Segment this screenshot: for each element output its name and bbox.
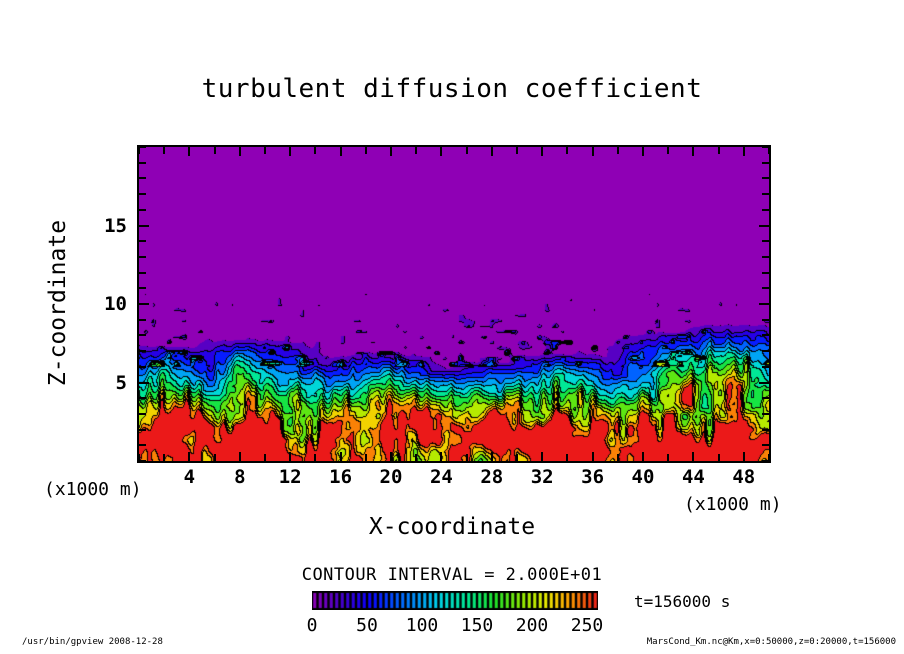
x-tick-label: 16 <box>321 466 361 488</box>
x-tick-bottom <box>743 452 745 461</box>
y-tick-label: 10 <box>93 293 127 315</box>
colorbar-tick-label: 0 <box>282 615 342 636</box>
y-tick-right <box>762 444 769 446</box>
x-tick-top <box>390 147 392 156</box>
x-tick-bottom <box>390 452 392 461</box>
x-tick-top <box>692 147 694 156</box>
y-tick-left <box>139 162 146 164</box>
colorbar-tick-label: 200 <box>502 615 562 636</box>
x-tick-bottom <box>592 452 594 461</box>
x-tick-bottom <box>566 454 568 461</box>
y-tick-left <box>139 460 146 462</box>
y-tick-left <box>139 240 146 242</box>
x-tick-bottom <box>466 454 468 461</box>
x-tick-bottom <box>340 452 342 461</box>
y-tick-left <box>139 382 149 384</box>
x-tick-bottom <box>289 452 291 461</box>
y-tick-left <box>139 444 146 446</box>
y-tick-left <box>139 146 146 148</box>
x-tick-bottom <box>516 454 518 461</box>
contour-field-canvas <box>139 147 769 461</box>
x-tick-top <box>566 147 568 154</box>
x-tick-top <box>466 147 468 154</box>
y-tick-right <box>762 287 769 289</box>
x-tick-top <box>214 147 216 154</box>
x-tick-bottom <box>718 454 720 461</box>
y-tick-left <box>139 256 146 258</box>
x-tick-top <box>415 147 417 154</box>
y-tick-left <box>139 303 149 305</box>
y-tick-right <box>762 334 769 336</box>
x-tick-top <box>516 147 518 154</box>
y-tick-label: 15 <box>93 215 127 237</box>
y-tick-label: 5 <box>93 372 127 394</box>
x-tick-top <box>768 147 770 154</box>
x-tick-bottom <box>188 452 190 461</box>
x-tick-top <box>365 147 367 154</box>
y-tick-right <box>762 193 769 195</box>
x-tick-label: 32 <box>522 466 562 488</box>
x-tick-bottom <box>314 454 316 461</box>
y-tick-left <box>139 429 146 431</box>
x-tick-label: 48 <box>724 466 764 488</box>
y-tick-right <box>759 382 769 384</box>
footer-dataset: MarsCond_Km.nc@Km,x=0:50000,z=0:20000,t=… <box>647 637 896 647</box>
y-tick-left <box>139 287 146 289</box>
colorbar-tick-label: 250 <box>557 615 617 636</box>
x-tick-label: 36 <box>573 466 613 488</box>
y-tick-right <box>762 350 769 352</box>
x-tick-label: 24 <box>421 466 461 488</box>
x-axis-unit-right: (x1000 m) <box>684 494 782 515</box>
colorbar-tick-label: 50 <box>337 615 397 636</box>
x-tick-top <box>642 147 644 156</box>
x-tick-bottom <box>440 452 442 461</box>
y-tick-left <box>139 366 146 368</box>
colorbar[interactable] <box>312 591 598 610</box>
y-tick-right <box>762 397 769 399</box>
y-axis-title: Z-coordinate <box>45 198 71 408</box>
y-tick-left <box>139 225 149 227</box>
x-axis-unit-left: (x1000 m) <box>44 479 142 500</box>
y-tick-right <box>762 429 769 431</box>
y-tick-right <box>759 303 769 305</box>
x-tick-bottom <box>264 454 266 461</box>
x-axis-title: X-coordinate <box>0 514 904 540</box>
y-tick-left <box>139 397 146 399</box>
x-tick-top <box>340 147 342 156</box>
y-tick-left <box>139 334 146 336</box>
x-tick-bottom <box>642 452 644 461</box>
x-tick-top <box>440 147 442 156</box>
x-tick-bottom <box>214 454 216 461</box>
x-tick-top <box>667 147 669 154</box>
x-tick-bottom <box>617 454 619 461</box>
x-tick-top <box>718 147 720 154</box>
x-tick-label: 4 <box>169 466 209 488</box>
contour-interval-label: CONTOUR INTERVAL = 2.000E+01 <box>0 565 904 585</box>
x-tick-top <box>188 147 190 156</box>
y-tick-right <box>762 146 769 148</box>
y-tick-left <box>139 193 146 195</box>
footer-command: /usr/bin/gpview 2008-12-28 <box>22 637 163 647</box>
plot-area[interactable] <box>137 145 771 463</box>
x-tick-top <box>592 147 594 156</box>
y-tick-left <box>139 319 146 321</box>
y-tick-left <box>139 272 146 274</box>
x-tick-label: 28 <box>472 466 512 488</box>
x-tick-top <box>289 147 291 156</box>
x-tick-bottom <box>239 452 241 461</box>
colorbar-tick-label: 100 <box>392 615 452 636</box>
x-tick-bottom <box>415 454 417 461</box>
colorbar-tick-label: 150 <box>447 615 507 636</box>
y-tick-left <box>139 209 146 211</box>
x-tick-top <box>163 147 165 154</box>
x-tick-label: 44 <box>673 466 713 488</box>
y-tick-left <box>139 413 146 415</box>
y-tick-right <box>762 209 769 211</box>
y-tick-right <box>762 162 769 164</box>
x-tick-top <box>617 147 619 154</box>
time-stamp: t=156000 s <box>634 592 730 611</box>
x-tick-top <box>264 147 266 154</box>
x-tick-top <box>314 147 316 154</box>
y-tick-right <box>762 177 769 179</box>
y-tick-right <box>762 319 769 321</box>
x-tick-bottom <box>667 454 669 461</box>
x-tick-bottom <box>491 452 493 461</box>
x-tick-label: 20 <box>371 466 411 488</box>
y-tick-right <box>759 225 769 227</box>
x-tick-label: 12 <box>270 466 310 488</box>
x-tick-label: 40 <box>623 466 663 488</box>
page-title: turbulent diffusion coefficient <box>0 74 904 104</box>
x-tick-top <box>138 147 140 154</box>
y-tick-left <box>139 350 146 352</box>
y-tick-right <box>762 256 769 258</box>
y-tick-left <box>139 177 146 179</box>
x-tick-top <box>743 147 745 156</box>
x-tick-bottom <box>163 454 165 461</box>
x-tick-bottom <box>541 452 543 461</box>
x-tick-top <box>239 147 241 156</box>
y-tick-right <box>762 240 769 242</box>
colorbar-canvas <box>312 591 598 610</box>
x-tick-bottom <box>365 454 367 461</box>
x-tick-label: 8 <box>220 466 260 488</box>
y-tick-right <box>762 366 769 368</box>
x-tick-top <box>491 147 493 156</box>
y-tick-right <box>762 272 769 274</box>
x-tick-bottom <box>692 452 694 461</box>
y-tick-right <box>762 460 769 462</box>
x-tick-top <box>541 147 543 156</box>
y-tick-right <box>762 413 769 415</box>
